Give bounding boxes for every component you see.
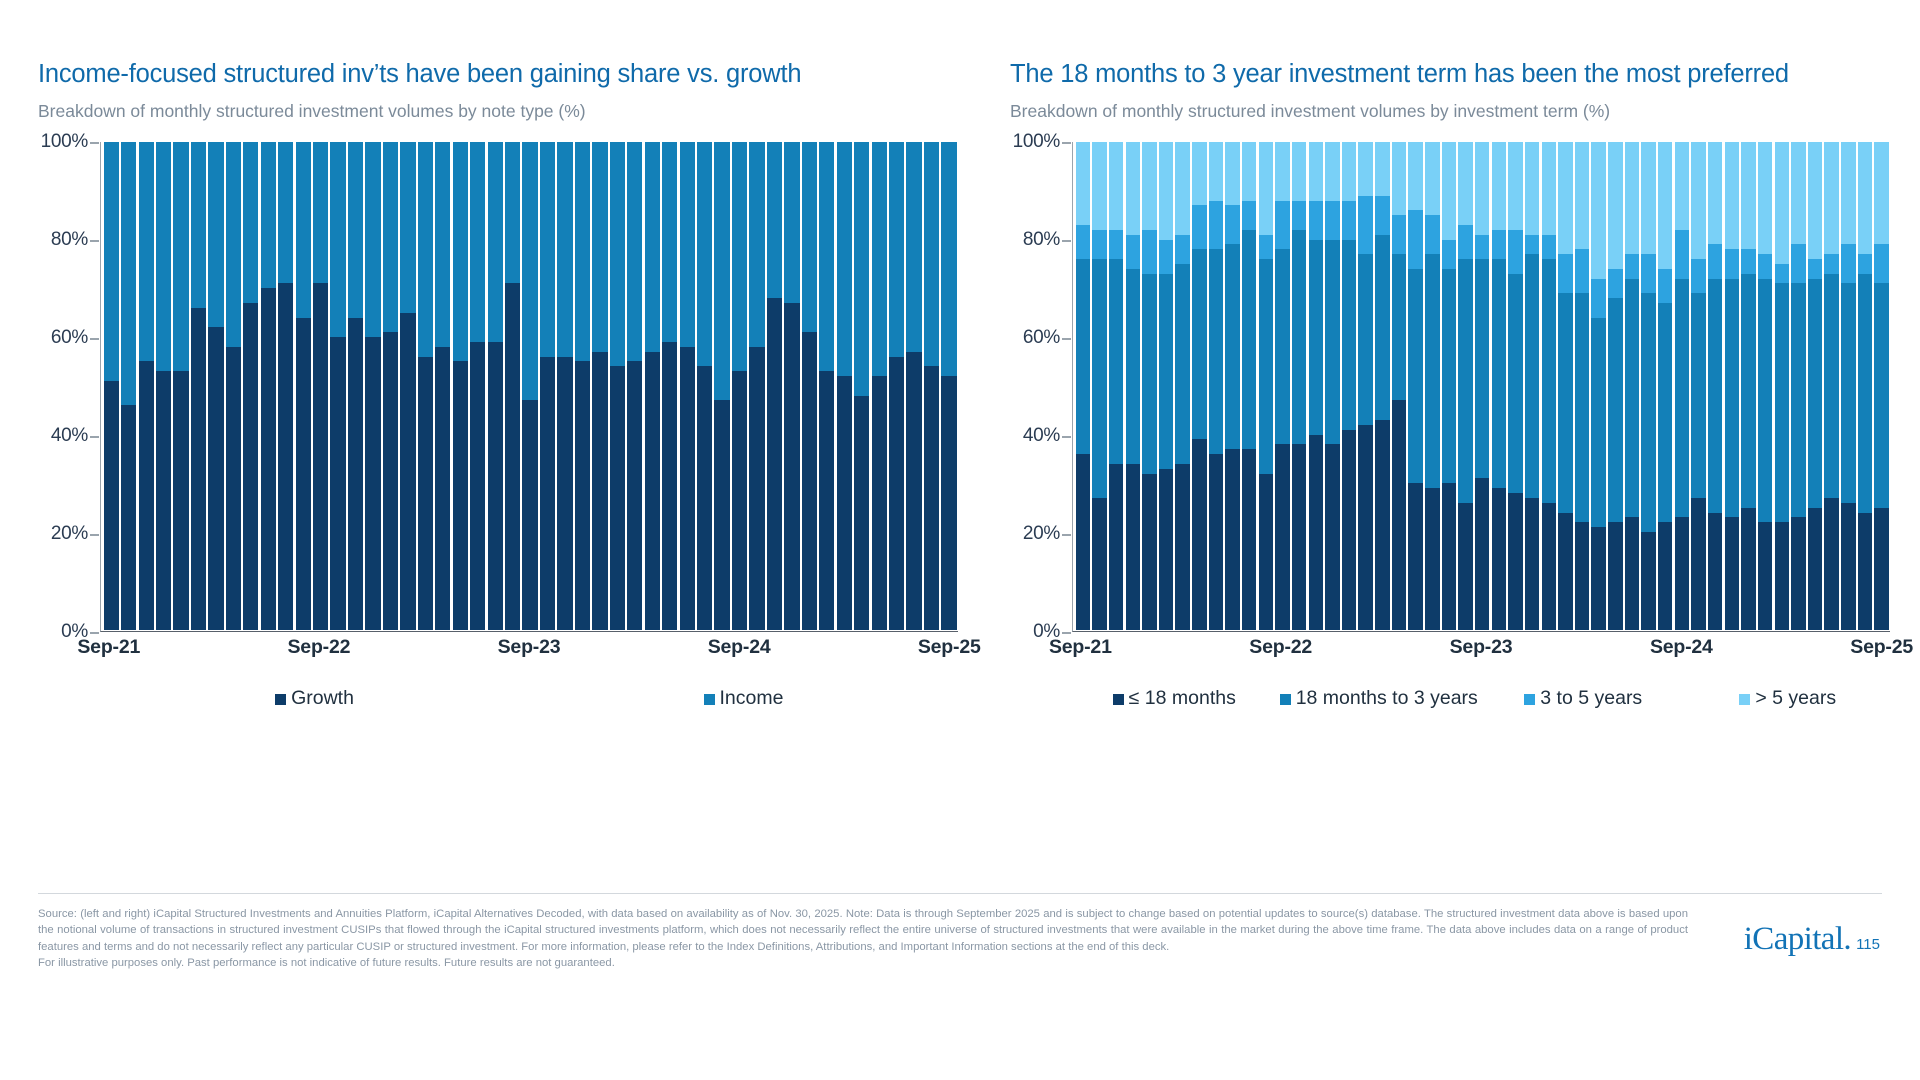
bar-segment	[1292, 142, 1306, 201]
bar-column[interactable]	[191, 142, 206, 630]
legend-item[interactable]: > 5 years	[1686, 687, 1891, 710]
bar-segment	[1076, 225, 1090, 259]
bar-column[interactable]	[1242, 142, 1256, 630]
left-chart: 0%20%40%60%80%100% Sep-21Sep-22Sep-23Sep…	[38, 142, 958, 632]
bar-segment	[872, 376, 887, 630]
x-tick-label: Sep-23	[498, 636, 561, 659]
bar-segment	[1858, 513, 1872, 630]
bar-segment	[1192, 439, 1206, 629]
bar-column[interactable]	[296, 142, 311, 630]
bar-segment	[662, 342, 677, 630]
bar-segment	[261, 288, 276, 629]
bar-segment	[1358, 425, 1372, 630]
bar-segment	[802, 142, 817, 332]
bar-segment	[1209, 249, 1223, 454]
bar-segment	[1375, 196, 1389, 235]
legend-label: ≤ 18 months	[1129, 687, 1236, 710]
bar-segment	[505, 142, 520, 283]
bar-column[interactable]	[1309, 142, 1323, 630]
bar-column[interactable]	[767, 142, 782, 630]
bar-column[interactable]	[1725, 142, 1739, 630]
bar-column[interactable]	[1325, 142, 1339, 630]
y-tick-mark	[90, 240, 99, 242]
bar-column[interactable]	[156, 142, 171, 630]
legend-item[interactable]: Income	[529, 687, 958, 710]
bar-segment	[732, 371, 747, 629]
bar-segment	[1092, 498, 1106, 630]
bar-column[interactable]	[1192, 142, 1206, 630]
bar-column[interactable]	[1292, 142, 1306, 630]
y-tick-mark	[1062, 240, 1071, 242]
bar-column[interactable]	[837, 142, 852, 630]
bar-column[interactable]	[1126, 142, 1140, 630]
bar-column[interactable]	[1758, 142, 1772, 630]
bar-segment	[749, 142, 764, 347]
bar-column[interactable]	[1076, 142, 1090, 630]
bar-segment	[173, 142, 188, 371]
bar-segment	[1126, 142, 1140, 235]
bar-segment	[1142, 274, 1156, 474]
bar-column[interactable]	[1475, 142, 1489, 630]
bar-segment	[1175, 464, 1189, 630]
bar-column[interactable]	[453, 142, 468, 630]
bar-column[interactable]	[1658, 142, 1672, 630]
bar-segment	[505, 283, 520, 629]
bar-segment	[1408, 142, 1422, 210]
right-chart-title: The 18 months to 3 year investment term …	[1010, 60, 1890, 89]
bar-segment	[1791, 283, 1805, 517]
bar-segment	[575, 142, 590, 361]
bar-segment	[191, 142, 206, 308]
bar-segment	[1625, 254, 1639, 278]
bar-segment	[714, 400, 729, 629]
bar-segment	[1392, 254, 1406, 400]
bar-segment	[383, 142, 398, 332]
bar-column[interactable]	[732, 142, 747, 630]
bar-segment	[139, 142, 154, 361]
right-chart-panel: The 18 months to 3 year investment term …	[1010, 60, 1890, 860]
bar-column[interactable]	[1492, 142, 1506, 630]
bar-column[interactable]	[1575, 142, 1589, 630]
bar-segment	[1708, 244, 1722, 278]
bar-segment	[1126, 235, 1140, 269]
bar-segment	[435, 347, 450, 630]
bar-segment	[330, 142, 345, 337]
bar-segment	[1658, 142, 1672, 269]
bar-column[interactable]	[819, 142, 834, 630]
bar-segment	[1791, 517, 1805, 629]
bar-segment	[208, 142, 223, 327]
bar-segment	[139, 361, 154, 629]
bar-column[interactable]	[104, 142, 119, 630]
bar-segment	[1508, 142, 1522, 230]
legend-swatch-icon	[1739, 694, 1750, 705]
bar-segment	[1225, 142, 1239, 205]
bar-column[interactable]	[278, 142, 293, 630]
bar-column[interactable]	[1408, 142, 1422, 630]
legend-item[interactable]: 18 months to 3 years	[1277, 687, 1482, 710]
bar-column[interactable]	[592, 142, 607, 630]
y-tick-mark	[90, 436, 99, 438]
bar-column[interactable]	[1542, 142, 1556, 630]
bar-column[interactable]	[1708, 142, 1722, 630]
bar-column[interactable]	[662, 142, 677, 630]
bar-segment	[627, 142, 642, 361]
bar-column[interactable]	[1259, 142, 1273, 630]
bar-segment	[1342, 142, 1356, 201]
bar-segment	[1442, 269, 1456, 484]
bar-segment	[1808, 259, 1822, 279]
left-chart-panel: Income-focused structured inv’ts have be…	[38, 60, 958, 860]
bar-segment	[1225, 205, 1239, 244]
bar-column[interactable]	[697, 142, 712, 630]
y-tick-label: 80%	[1023, 229, 1060, 251]
bar-column[interactable]	[1625, 142, 1639, 630]
bar-column[interactable]	[313, 142, 328, 630]
bar-column[interactable]	[418, 142, 433, 630]
bar-segment	[1259, 142, 1273, 235]
bar-segment	[1625, 279, 1639, 518]
y-tick-label: 40%	[51, 425, 88, 447]
bar-segment	[1725, 142, 1739, 249]
bar-segment	[1175, 264, 1189, 464]
bar-segment	[1442, 240, 1456, 269]
bar-column[interactable]	[941, 142, 956, 630]
footer-divider	[38, 893, 1882, 894]
bar-segment	[1824, 498, 1838, 630]
bar-column[interactable]	[400, 142, 415, 630]
bar-segment	[1575, 249, 1589, 293]
bar-segment	[1775, 264, 1789, 284]
bar-column[interactable]	[610, 142, 625, 630]
bar-segment	[243, 303, 258, 630]
bar-segment	[470, 342, 485, 630]
bar-segment	[1725, 249, 1739, 278]
bar-segment	[1492, 142, 1506, 230]
bar-column[interactable]	[854, 142, 869, 630]
bar-column[interactable]	[1209, 142, 1223, 630]
bar-segment	[1309, 435, 1323, 630]
bar-segment	[400, 142, 415, 313]
bar-column[interactable]	[208, 142, 223, 630]
bar-segment	[1092, 259, 1106, 498]
bar-column[interactable]	[1591, 142, 1605, 630]
left-chart-subtitle: Breakdown of monthly structured investme…	[38, 101, 958, 122]
bar-column[interactable]	[1092, 142, 1106, 630]
bar-segment	[173, 371, 188, 629]
bar-segment	[191, 308, 206, 630]
left-plot-area	[100, 142, 958, 632]
bar-column[interactable]	[365, 142, 380, 630]
bar-segment	[1175, 235, 1189, 264]
bar-segment	[418, 142, 433, 357]
bar-segment	[400, 313, 415, 630]
bar-column[interactable]	[1791, 142, 1805, 630]
bar-segment	[1375, 142, 1389, 196]
bar-segment	[1358, 254, 1372, 425]
bar-column[interactable]	[1508, 142, 1522, 630]
bar-segment	[819, 371, 834, 629]
bar-segment	[1109, 259, 1123, 464]
bar-segment	[1309, 142, 1323, 201]
bar-column[interactable]	[1109, 142, 1123, 630]
bar-column[interactable]	[575, 142, 590, 630]
bar-segment	[627, 361, 642, 629]
bar-segment	[121, 405, 136, 629]
bar-segment	[1425, 215, 1439, 254]
bar-segment	[610, 366, 625, 629]
bar-segment	[1874, 283, 1888, 507]
bar-column[interactable]	[243, 142, 258, 630]
bar-segment	[1874, 244, 1888, 283]
bar-segment	[1392, 400, 1406, 629]
bar-segment	[872, 142, 887, 376]
bar-segment	[1292, 201, 1306, 230]
bar-segment	[592, 142, 607, 352]
bar-column[interactable]	[383, 142, 398, 630]
bar-column[interactable]	[348, 142, 363, 630]
x-tick-label: Sep-25	[918, 636, 981, 659]
bar-segment	[1741, 142, 1755, 249]
bar-segment	[1641, 142, 1655, 254]
bar-column[interactable]	[1392, 142, 1406, 630]
bar-column[interactable]	[261, 142, 276, 630]
bar-segment	[1758, 254, 1772, 278]
bar-column[interactable]	[889, 142, 904, 630]
right-chart-subtitle: Breakdown of monthly structured investme…	[1010, 101, 1890, 122]
bar-column[interactable]	[121, 142, 136, 630]
bar-segment	[645, 142, 660, 352]
bar-column[interactable]	[1458, 142, 1472, 630]
y-tick-label: 100%	[41, 131, 88, 153]
bar-segment	[1192, 142, 1206, 205]
y-tick-label: 80%	[51, 229, 88, 251]
bar-segment	[348, 318, 363, 630]
bottom-bar	[0, 1062, 1920, 1080]
legend-label: > 5 years	[1755, 687, 1836, 710]
bar-segment	[1209, 142, 1223, 201]
bar-column[interactable]	[1225, 142, 1239, 630]
bar-column[interactable]	[872, 142, 887, 630]
bar-column[interactable]	[1675, 142, 1689, 630]
brand-name: iCapital.	[1744, 921, 1851, 958]
bar-segment	[854, 396, 869, 630]
bar-segment	[1691, 498, 1705, 630]
bar-segment	[1492, 230, 1506, 259]
bar-column[interactable]	[1741, 142, 1755, 630]
bar-segment	[1542, 259, 1556, 503]
bar-column[interactable]	[139, 142, 154, 630]
right-legend: ≤ 18 months18 months to 3 years3 to 5 ye…	[1072, 687, 1890, 710]
bar-segment	[1192, 205, 1206, 249]
bar-segment	[1658, 522, 1672, 629]
bar-segment	[278, 283, 293, 629]
bar-segment	[1758, 142, 1772, 254]
bar-column[interactable]	[1525, 142, 1539, 630]
bar-segment	[470, 142, 485, 342]
bar-column[interactable]	[802, 142, 817, 630]
bar-segment	[1209, 201, 1223, 250]
bar-column[interactable]	[1275, 142, 1289, 630]
bar-column[interactable]	[1142, 142, 1156, 630]
bar-segment	[243, 142, 258, 303]
y-tick-label: 40%	[1023, 425, 1060, 447]
bar-segment	[156, 371, 171, 629]
bar-segment	[540, 142, 555, 357]
bar-segment	[365, 337, 380, 630]
bar-segment	[610, 142, 625, 366]
bar-column[interactable]	[749, 142, 764, 630]
bar-segment	[1741, 274, 1755, 508]
x-tick-label: Sep-24	[1650, 636, 1713, 659]
x-tick-label: Sep-23	[1450, 636, 1513, 659]
footnote-line-2: For illustrative purposes only. Past per…	[38, 955, 1688, 971]
bar-segment	[1275, 201, 1289, 250]
bar-segment	[1475, 142, 1489, 235]
bar-column[interactable]	[1442, 142, 1456, 630]
bar-segment	[296, 142, 311, 318]
bar-column[interactable]	[522, 142, 537, 630]
bar-column[interactable]	[1608, 142, 1622, 630]
bar-column[interactable]	[1342, 142, 1356, 630]
bar-segment	[1375, 235, 1389, 420]
bar-segment	[1175, 142, 1189, 235]
bar-segment	[1841, 283, 1855, 502]
bar-segment	[1558, 142, 1572, 254]
bar-column[interactable]	[924, 142, 939, 630]
bar-segment	[1691, 293, 1705, 498]
bar-segment	[1758, 522, 1772, 629]
bar-segment	[837, 376, 852, 630]
bar-column[interactable]	[1841, 142, 1855, 630]
x-tick-label: Sep-25	[1850, 636, 1913, 659]
bar-segment	[1142, 474, 1156, 630]
bar-segment	[1076, 454, 1090, 630]
bar-segment	[1109, 142, 1123, 230]
bar-segment	[854, 142, 869, 396]
bar-segment	[557, 357, 572, 630]
bar-segment	[1874, 142, 1888, 244]
bar-column[interactable]	[1874, 142, 1888, 630]
bar-column[interactable]	[1175, 142, 1189, 630]
bar-column[interactable]	[330, 142, 345, 630]
bar-segment	[1608, 142, 1622, 269]
bar-column[interactable]	[627, 142, 642, 630]
bar-segment	[418, 357, 433, 630]
bar-column[interactable]	[1691, 142, 1705, 630]
bar-segment	[924, 142, 939, 366]
legend-item[interactable]: Growth	[100, 687, 529, 710]
bar-segment	[1525, 142, 1539, 235]
bar-column[interactable]	[1358, 142, 1372, 630]
x-tick-label: Sep-22	[1249, 636, 1312, 659]
slide-root: Income-focused structured inv’ts have be…	[0, 0, 1920, 1080]
bar-column[interactable]	[645, 142, 660, 630]
bar-segment	[1575, 142, 1589, 249]
y-tick-mark	[90, 632, 99, 634]
legend-swatch-icon	[1113, 694, 1124, 705]
bar-column[interactable]	[540, 142, 555, 630]
bar-segment	[1159, 274, 1173, 469]
bar-segment	[1126, 269, 1140, 464]
bar-segment	[1475, 235, 1489, 259]
bar-segment	[1458, 225, 1472, 259]
bar-segment	[1192, 249, 1206, 439]
bar-segment	[313, 283, 328, 629]
bar-segment	[1858, 274, 1872, 513]
bar-column[interactable]	[714, 142, 729, 630]
bar-column[interactable]	[1858, 142, 1872, 630]
bar-column[interactable]	[1558, 142, 1572, 630]
bar-segment	[1358, 196, 1372, 255]
bar-column[interactable]	[1375, 142, 1389, 630]
bar-column[interactable]	[1808, 142, 1822, 630]
bar-column[interactable]	[435, 142, 450, 630]
bar-segment	[1292, 230, 1306, 445]
bar-segment	[749, 347, 764, 630]
legend-item[interactable]: ≤ 18 months	[1072, 687, 1277, 710]
bar-segment	[1325, 444, 1339, 629]
bar-column[interactable]	[1775, 142, 1789, 630]
bar-segment	[1458, 142, 1472, 225]
y-tick-label: 20%	[1023, 523, 1060, 545]
bar-segment	[1641, 293, 1655, 532]
bar-segment	[680, 347, 695, 630]
bar-column[interactable]	[1824, 142, 1838, 630]
right-chart: 0%20%40%60%80%100% Sep-21Sep-22Sep-23Sep…	[1010, 142, 1890, 632]
legend-item[interactable]: 3 to 5 years	[1481, 687, 1686, 710]
bar-column[interactable]	[505, 142, 520, 630]
bar-column[interactable]	[488, 142, 503, 630]
bar-segment	[1758, 279, 1772, 523]
bar-segment	[1275, 142, 1289, 201]
bar-column[interactable]	[1425, 142, 1439, 630]
bar-segment	[941, 376, 956, 630]
bar-column[interactable]	[784, 142, 799, 630]
bar-segment	[1591, 279, 1605, 318]
bar-column[interactable]	[1641, 142, 1655, 630]
left-y-axis: 0%20%40%60%80%100%	[38, 142, 100, 632]
bar-column[interactable]	[1159, 142, 1173, 630]
bar-segment	[1675, 517, 1689, 629]
bar-segment	[714, 142, 729, 400]
bar-column[interactable]	[173, 142, 188, 630]
bar-segment	[1658, 269, 1672, 303]
bar-column[interactable]	[680, 142, 695, 630]
bar-segment	[1775, 522, 1789, 629]
legend-label: 3 to 5 years	[1540, 687, 1642, 710]
bar-segment	[1608, 269, 1622, 298]
bar-segment	[767, 142, 782, 298]
bar-column[interactable]	[470, 142, 485, 630]
bar-segment	[1309, 240, 1323, 435]
x-tick-label: Sep-24	[708, 636, 771, 659]
bar-segment	[1824, 254, 1838, 274]
bar-segment	[330, 337, 345, 630]
bar-segment	[1325, 142, 1339, 201]
bar-segment	[1259, 259, 1273, 474]
bar-column[interactable]	[226, 142, 241, 630]
bar-segment	[1824, 142, 1838, 254]
bar-column[interactable]	[557, 142, 572, 630]
x-tick-label: Sep-21	[77, 636, 140, 659]
legend-swatch-icon	[704, 694, 715, 705]
bar-segment	[1608, 522, 1622, 629]
bar-segment	[121, 142, 136, 405]
bar-column[interactable]	[906, 142, 921, 630]
bar-segment	[1425, 142, 1439, 215]
left-bar-group	[103, 142, 959, 630]
